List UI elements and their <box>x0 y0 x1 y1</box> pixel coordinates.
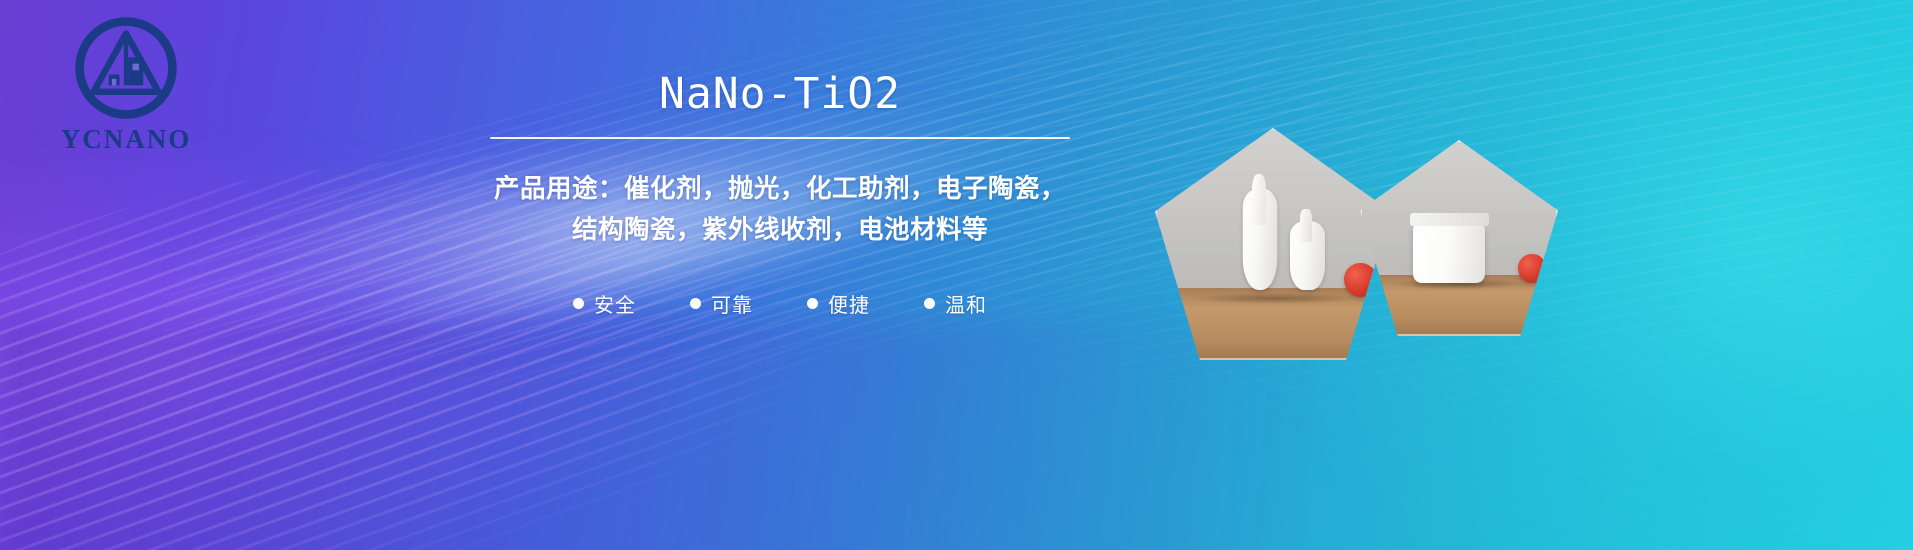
banner-content: NaNo-TiO2 产品用途：催化剂，抛光，化工助剂，电子陶瓷， 结构陶瓷，紫外… <box>470 0 1090 550</box>
feature-label: 温和 <box>945 289 987 318</box>
bullet-dot-icon <box>924 298 935 309</box>
red-apple <box>1518 254 1546 283</box>
feature-item-mild: 温和 <box>924 289 987 318</box>
product-photo-jar <box>1360 140 1558 336</box>
tall-white-vase-neck <box>1252 174 1266 225</box>
product-usage-line-1: 产品用途：催化剂，抛光，化工助剂，电子陶瓷， <box>494 174 1066 204</box>
product-usage-text: 产品用途：催化剂，抛光，化工助剂，电子陶瓷， 结构陶瓷，紫外线收剂，电池材料等 <box>474 169 1086 252</box>
feature-list: 安全 可靠 便捷 温和 <box>573 289 987 318</box>
brand-logo[interactable]: YCNANO <box>36 14 216 153</box>
white-jar-lid <box>1410 213 1489 227</box>
feature-item-convenient: 便捷 <box>807 289 870 318</box>
page-title: NaNo-TiO2 <box>659 72 901 117</box>
brand-wordmark: YCNANO <box>36 126 216 153</box>
feature-label: 便捷 <box>828 289 870 318</box>
feature-label: 可靠 <box>711 289 753 318</box>
product-photo-vases <box>1155 128 1391 360</box>
product-usage-line-2: 结构陶瓷，紫外线收剂，电池材料等 <box>474 210 1086 251</box>
bullet-dot-icon <box>690 298 701 309</box>
bullet-dot-icon <box>573 298 584 309</box>
ycnano-mountain-circle-logo-icon <box>72 14 180 122</box>
short-white-vase-neck <box>1300 209 1312 241</box>
feature-label: 安全 <box>594 289 636 318</box>
title-divider <box>490 137 1070 139</box>
feature-item-reliable: 可靠 <box>690 289 753 318</box>
feature-item-safe: 安全 <box>573 289 636 318</box>
red-apple <box>1344 263 1377 298</box>
white-jar <box>1413 224 1484 283</box>
bullet-dot-icon <box>807 298 818 309</box>
photo-shadow <box>1193 293 1358 305</box>
product-banner: YCNANO NaNo-TiO2 产品用途：催化剂，抛光，化工助剂，电子陶瓷， … <box>0 0 1913 550</box>
